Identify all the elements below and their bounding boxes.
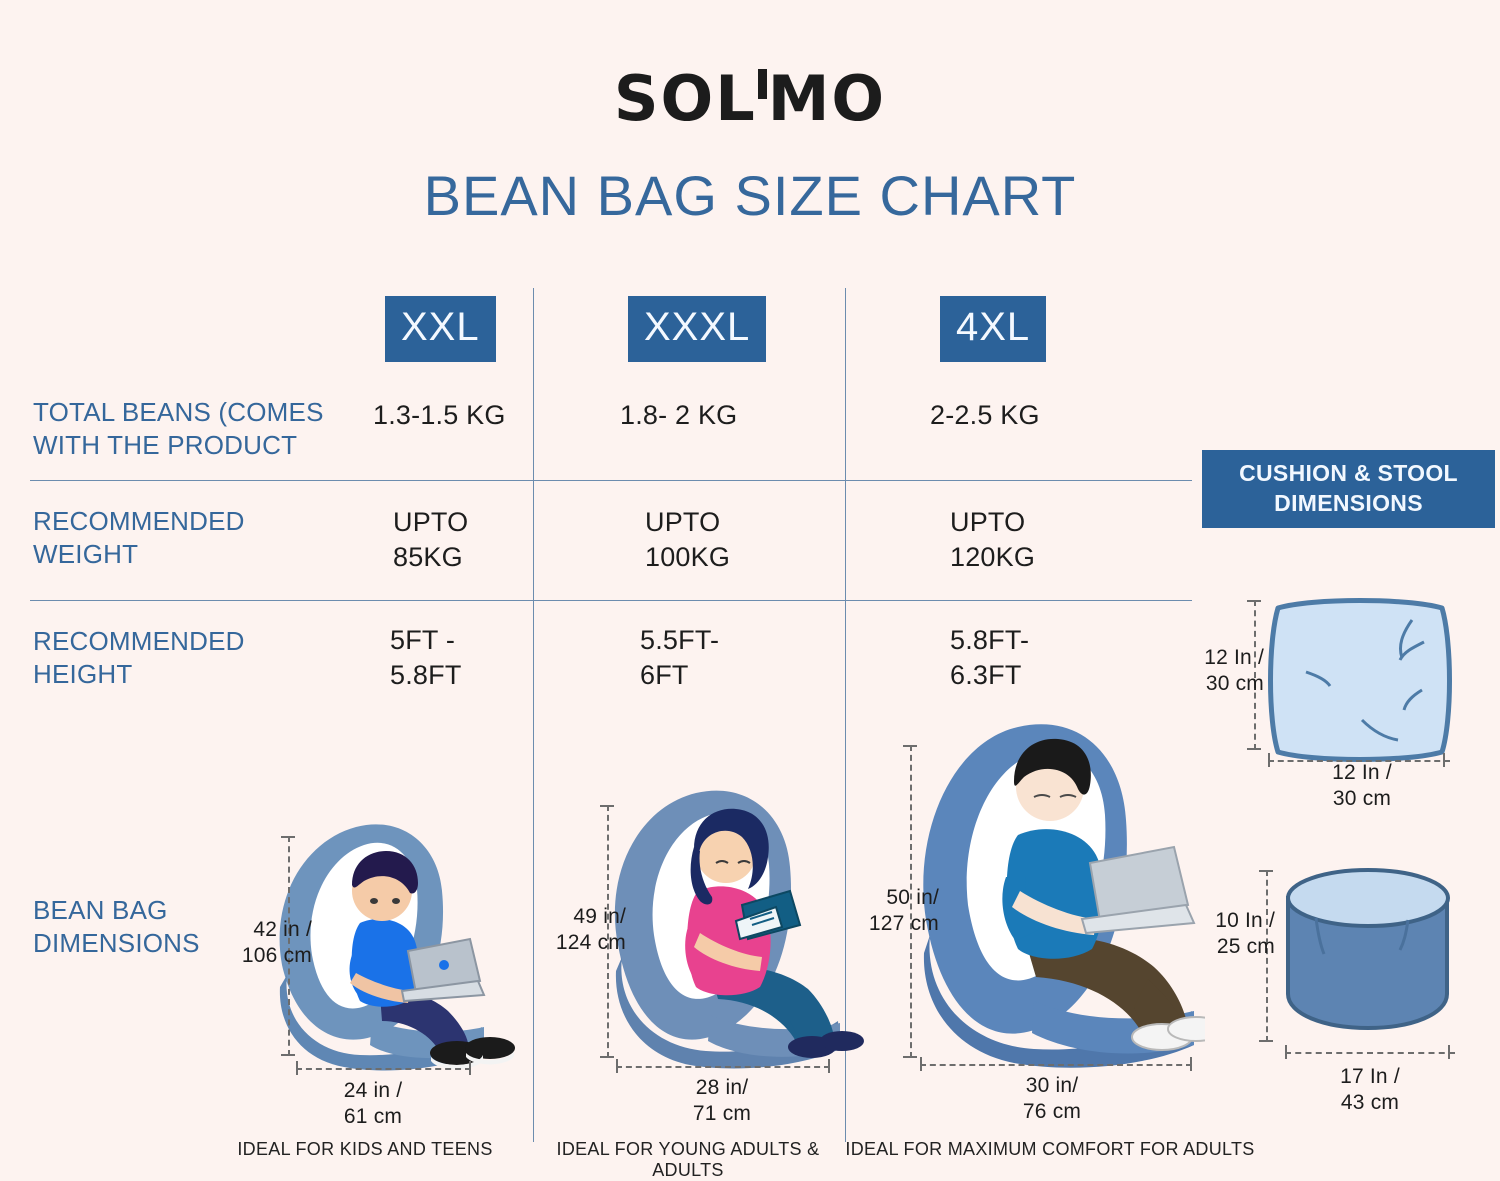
value-weight-xxl: UPTO85KG — [393, 505, 468, 575]
tick-stool-height-top — [1259, 870, 1273, 872]
guide-xxl-width — [296, 1068, 471, 1070]
size-badge-4xl: 4XL — [940, 296, 1046, 362]
dimension-xxxl-height: 49 in/124 cm — [536, 904, 626, 956]
illustration-4xl-bean-bag — [900, 705, 1205, 1075]
row-divider-1 — [30, 480, 1192, 481]
tick-xxxl-width-left — [616, 1059, 618, 1073]
dimension-4xl-width: 30 in/76 cm — [912, 1073, 1192, 1125]
illustration-stool — [1280, 862, 1455, 1042]
brand-text-part2: MO — [768, 62, 886, 135]
tick-4xl-height-top — [903, 745, 917, 747]
value-weight-xxxl: UPTO100KG — [645, 505, 730, 575]
dimension-cushion-height: 12 In /30 cm — [1192, 645, 1264, 697]
dimension-xxxl-width: 28 in/71 cm — [612, 1075, 832, 1127]
guide-4xl-width — [920, 1064, 1192, 1066]
column-divider-1 — [533, 288, 534, 1142]
caption-xxxl: IDEAL FOR YOUNG ADULTS & ADULTS — [523, 1139, 853, 1181]
value-height-xxl: 5FT -5.8FT — [390, 623, 462, 693]
row-label-recommended-height: RECOMMENDEDHEIGHT — [33, 625, 333, 691]
tick-xxxl-width-right — [828, 1059, 830, 1073]
value-beans-xxxl: 1.8- 2 KG — [620, 398, 737, 433]
dimension-xxl-height: 42 in /106 cm — [222, 917, 312, 969]
illustration-xxxl-bean-bag — [590, 775, 865, 1075]
page-title: BEAN BAG SIZE CHART — [0, 163, 1500, 228]
guide-stool-width — [1285, 1052, 1455, 1054]
tick-4xl-width-right — [1190, 1057, 1192, 1071]
tick-xxxl-height-bottom — [600, 1056, 614, 1058]
row-label-recommended-weight: RECOMMENDEDWEIGHT — [33, 505, 333, 571]
tick-stool-width-left — [1285, 1045, 1287, 1059]
tick-xxl-height-bottom — [281, 1054, 295, 1056]
size-chart-page: SOLMO BEAN BAG SIZE CHART XXL XXXL 4XL T… — [0, 0, 1500, 1181]
dimension-cushion-width: 12 In /30 cm — [1268, 760, 1456, 812]
dimension-stool-height: 10 In /25 cm — [1203, 908, 1275, 960]
illustration-cushion — [1262, 590, 1457, 770]
dimension-xxl-width: 24 in /61 cm — [278, 1078, 468, 1130]
row-label-total-beans: TOTAL BEANS (COMESWITH THE PRODUCT — [33, 396, 333, 462]
value-beans-4xl: 2-2.5 KG — [930, 398, 1040, 433]
brand-bar-icon — [758, 69, 767, 99]
brand-text-part1: SOL — [614, 62, 757, 135]
brand-logo: SOLMO — [0, 62, 1500, 135]
tick-4xl-width-left — [920, 1057, 922, 1071]
tick-stool-width-right — [1448, 1045, 1450, 1059]
size-badge-xxxl: XXXL — [628, 296, 766, 362]
tick-cushion-height-top — [1247, 600, 1261, 602]
tick-xxl-width-left — [296, 1061, 298, 1075]
caption-xxl: IDEAL FOR KIDS AND TEENS — [195, 1139, 535, 1160]
tick-4xl-height-bottom — [903, 1056, 917, 1058]
caption-4xl: IDEAL FOR MAXIMUM COMFORT FOR ADULTS — [840, 1139, 1260, 1160]
value-height-xxxl: 5.5FT-6FT — [640, 623, 719, 693]
tick-xxl-height-top — [281, 836, 295, 838]
tick-stool-height-bottom — [1259, 1040, 1273, 1042]
tick-xxxl-height-top — [600, 805, 614, 807]
guide-xxxl-width — [616, 1066, 830, 1068]
dimension-stool-width: 17 In /43 cm — [1285, 1064, 1455, 1116]
value-height-4xl: 5.8FT-6.3FT — [950, 623, 1029, 693]
value-weight-4xl: UPTO120KG — [950, 505, 1035, 575]
tick-cushion-height-bottom — [1247, 748, 1261, 750]
tick-xxl-width-right — [469, 1061, 471, 1075]
size-badge-xxl: XXL — [385, 296, 496, 362]
dimension-4xl-height: 50 in/127 cm — [843, 885, 939, 937]
row-divider-2 — [30, 600, 1192, 601]
cushion-stool-header: CUSHION & STOOLDIMENSIONS — [1202, 450, 1495, 528]
value-beans-xxl: 1.3-1.5 KG — [373, 398, 506, 433]
